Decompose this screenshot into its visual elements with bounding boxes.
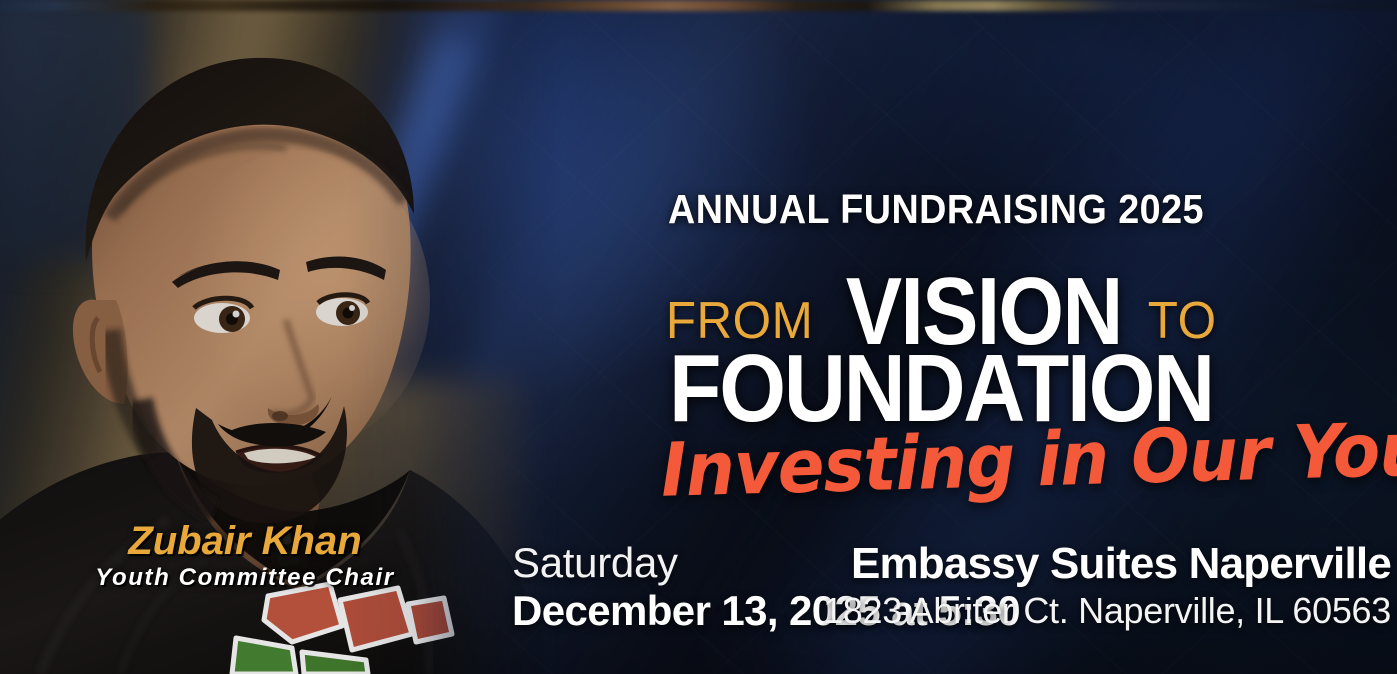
top-photo-strip — [0, 0, 1397, 11]
event-venue-block: Embassy Suites Naperville 1823 Abriter C… — [823, 542, 1391, 630]
event-venue-name: Embassy Suites Naperville — [823, 542, 1391, 586]
speaker-nameplate: Zubair Khan Youth Committee Chair — [80, 520, 410, 593]
speaker-role: Youth Committee Chair — [80, 564, 410, 593]
event-venue-address: 1823 Abriter Ct. Naperville, IL 60563 — [823, 592, 1391, 630]
fundraising-event-flyer: ANNUAL FUNDRAISING 2025 FROM VISION TO F… — [0, 0, 1397, 674]
script-tagline: Investing in Our Youth — [660, 416, 1220, 511]
speaker-name: Zubair Khan — [80, 520, 410, 562]
event-kicker-title: ANNUAL FUNDRAISING 2025 — [660, 186, 1212, 233]
